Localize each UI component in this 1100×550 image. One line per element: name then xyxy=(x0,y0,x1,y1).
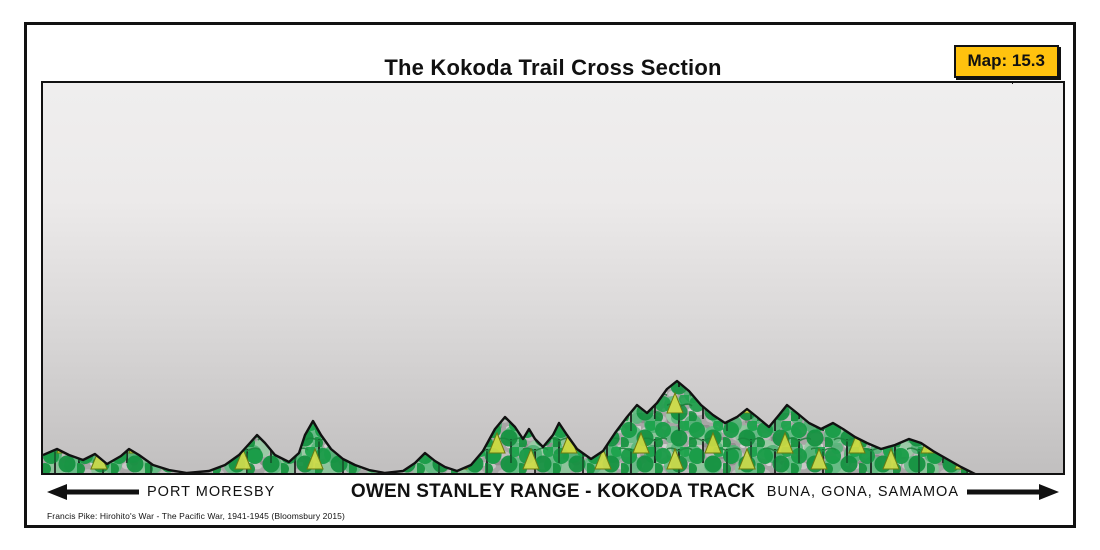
page-title: The Kokoda Trail Cross Section xyxy=(27,55,1079,81)
direction-left-label: PORT MORESBY xyxy=(147,484,275,500)
arrow-right-icon xyxy=(967,484,1059,500)
sky-background xyxy=(43,83,1063,473)
page-title-text: The Kokoda Trail Cross Section xyxy=(384,55,721,84)
direction-buna-gona: BUNA, GONA, SAMAMOA xyxy=(767,484,1059,500)
direction-right-label: BUNA, GONA, SAMAMOA xyxy=(767,484,959,500)
arrow-left-icon xyxy=(47,484,139,500)
figure-outer-frame: The Kokoda Trail Cross Section Map: 15.3 xyxy=(24,22,1076,528)
footer-bar: OWEN STANLEY RANGE - KOKODA TRACK PORT M… xyxy=(41,477,1065,525)
cross-section-panel: OWERS' CORNER 735mIMITA RIDGE 850mIORIBA… xyxy=(41,81,1065,475)
terrain-cross-section-svg xyxy=(43,83,1063,473)
source-credit: Francis Pike: Hirohito's War - The Pacif… xyxy=(47,511,345,521)
map-figure: The Kokoda Trail Cross Section Map: 15.3 xyxy=(0,0,1100,550)
map-number-badge: Map: 15.3 xyxy=(954,45,1059,78)
callout-leader-line xyxy=(1012,81,1013,84)
direction-port-moresby: PORT MORESBY xyxy=(47,484,275,500)
